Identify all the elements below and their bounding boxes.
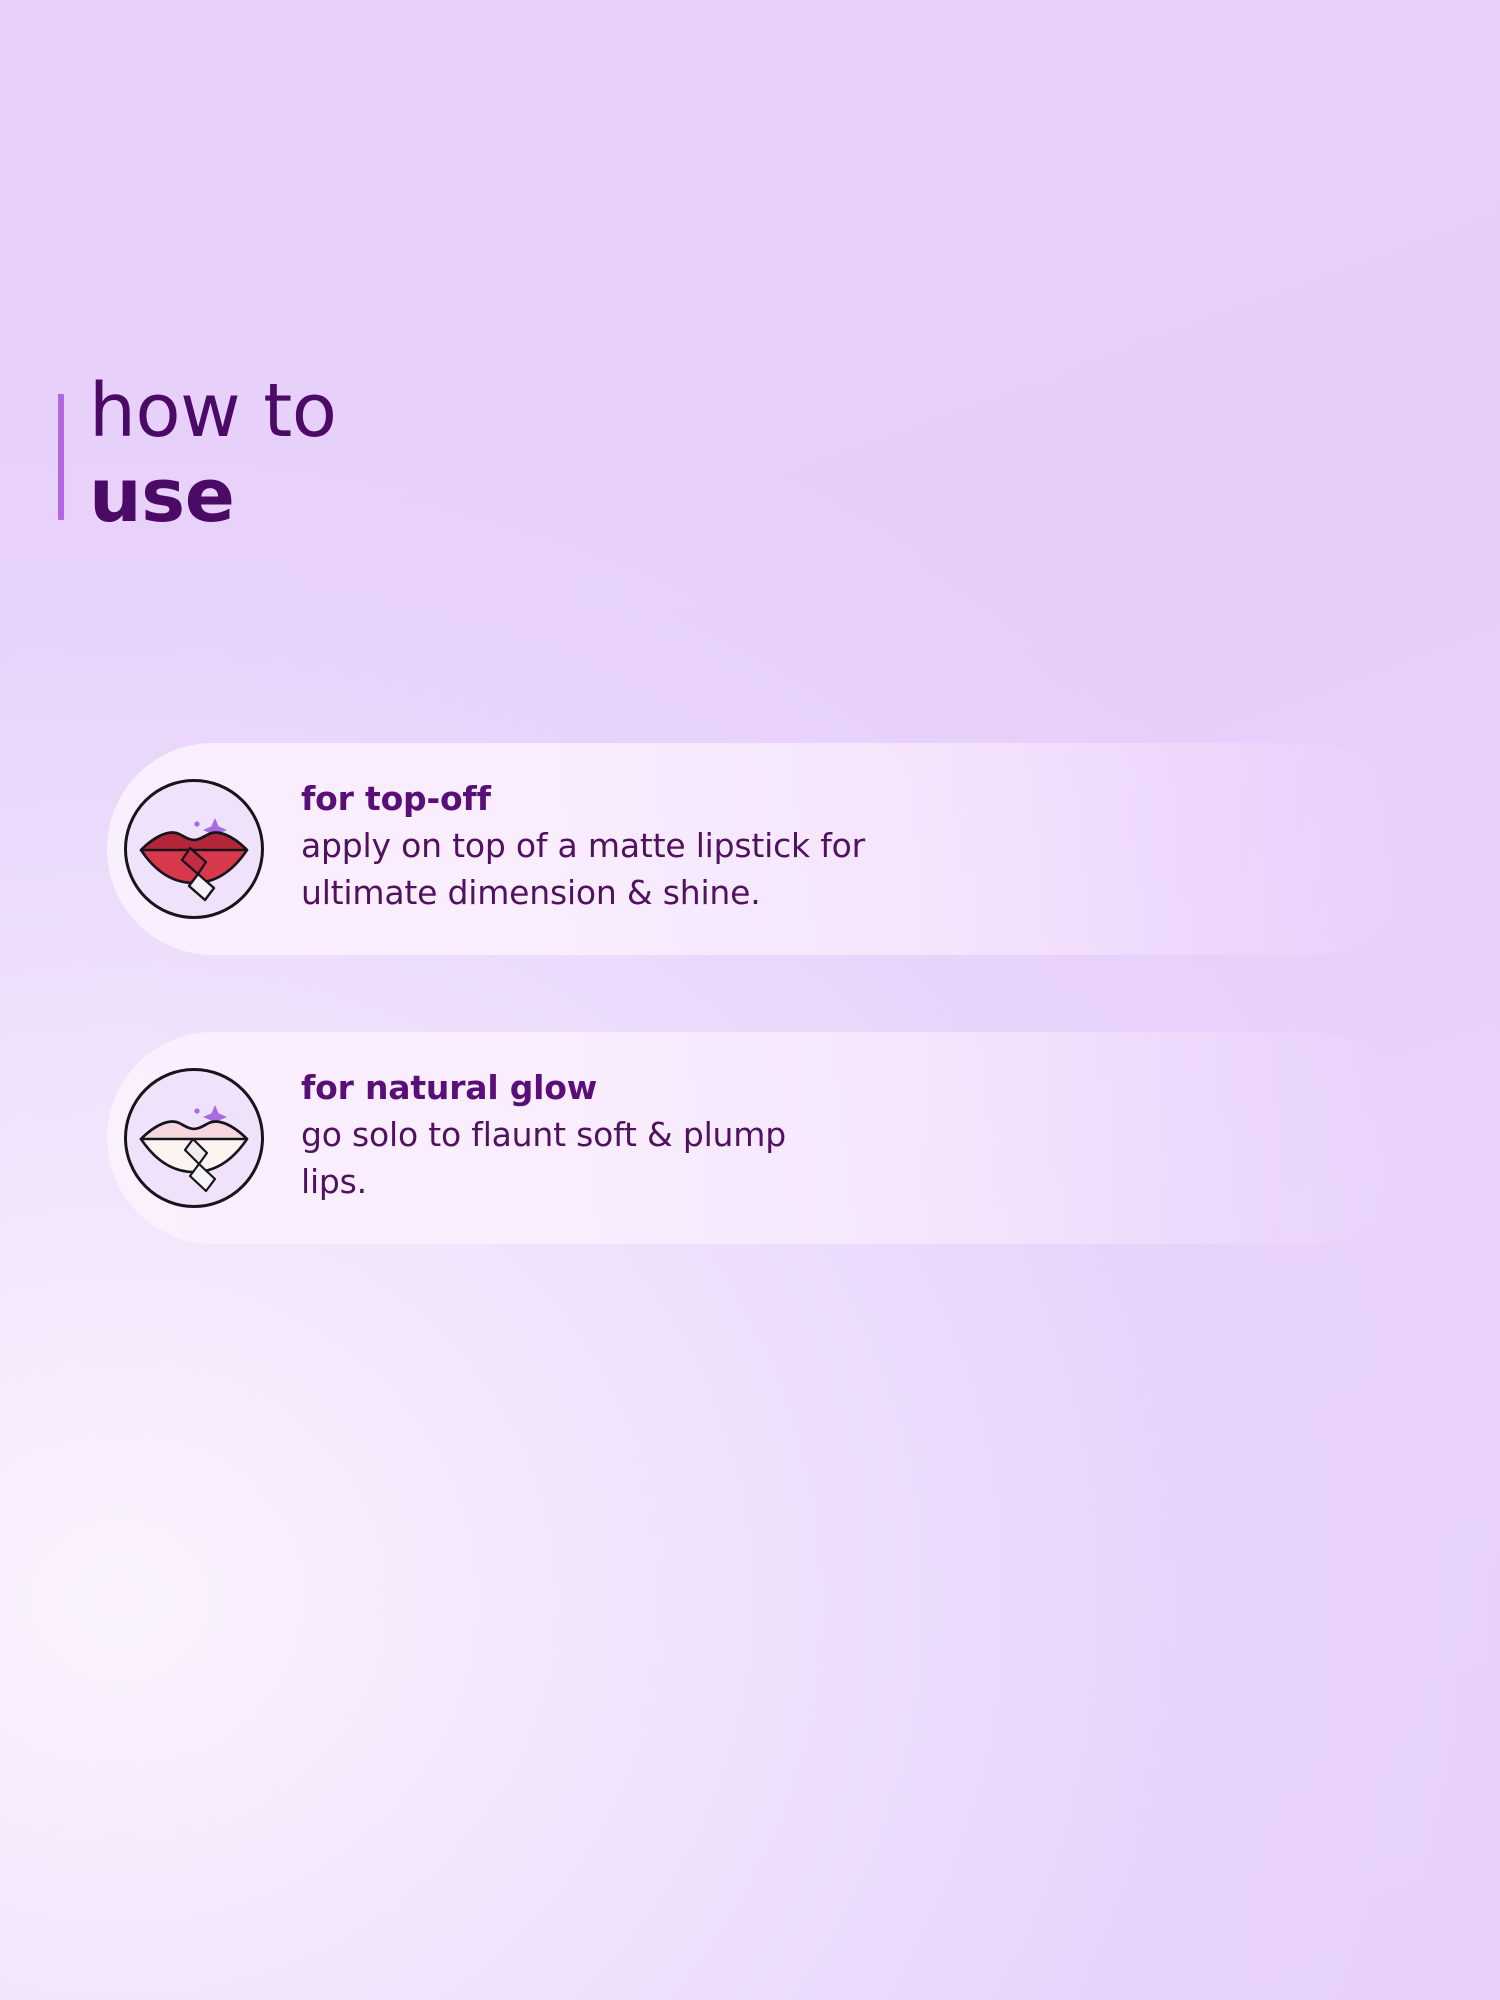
usage-card-text-group: for natural glow go solo to flaunt soft … bbox=[301, 1068, 786, 1208]
heading-line-1: how to bbox=[89, 372, 337, 451]
heading-line-2: use bbox=[89, 457, 337, 536]
how-to-use-card-list: for top-off apply on top of a matte lips… bbox=[107, 743, 1417, 1244]
heading-text-group: how to use bbox=[89, 372, 337, 536]
usage-card-title: for natural glow bbox=[301, 1068, 786, 1108]
usage-card-description: go solo to flaunt soft & plump lips. bbox=[301, 1112, 786, 1206]
usage-card-text-group: for top-off apply on top of a matte lips… bbox=[301, 779, 865, 919]
red-lips-with-lipstick-icon bbox=[124, 779, 264, 919]
usage-card-natural-glow[interactable]: for natural glow go solo to flaunt soft … bbox=[107, 1032, 1417, 1244]
usage-card-title: for top-off bbox=[301, 779, 865, 819]
heading-accent-bar bbox=[58, 394, 64, 520]
usage-card-description: apply on top of a matte lipstick for ult… bbox=[301, 823, 865, 917]
usage-card-top-off[interactable]: for top-off apply on top of a matte lips… bbox=[107, 743, 1417, 955]
page-title: how to use bbox=[58, 372, 337, 536]
nude-lips-with-gloss-wand-icon bbox=[124, 1068, 264, 1208]
